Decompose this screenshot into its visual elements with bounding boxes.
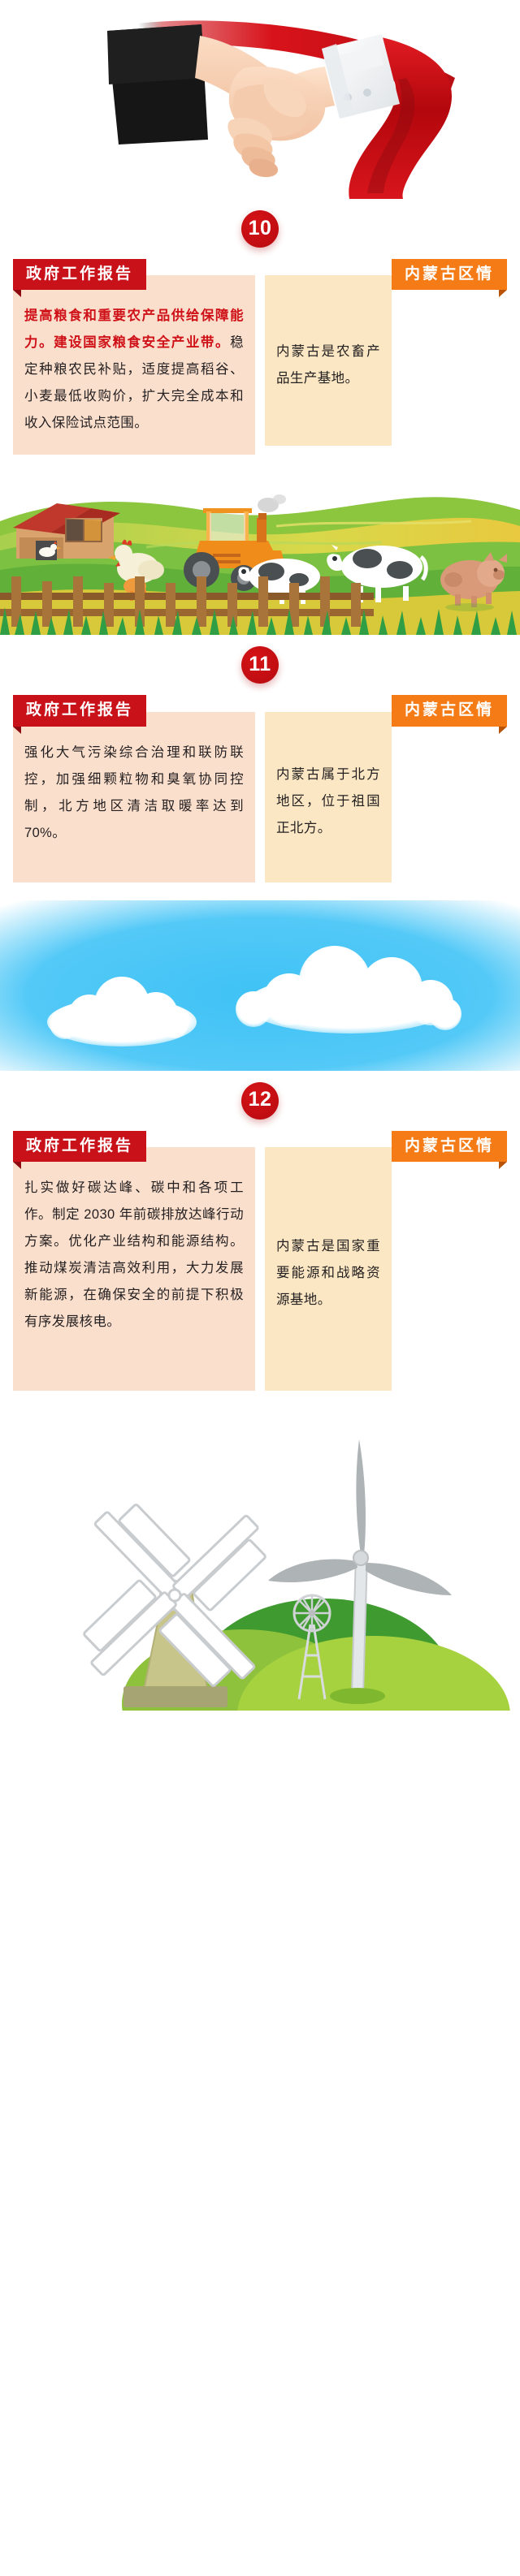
card-section-11: 政府工作报告 强化大气污染综合治理和联防联控，加强细颗粒物和臭氧协同控制，北方地…: [0, 695, 520, 882]
region-header-11: 内蒙古区情: [392, 695, 507, 726]
report-panel-11: 强化大气污染综合治理和联防联控，加强细颗粒物和臭氧协同控制，北方地区清洁取暖率达…: [13, 712, 255, 882]
sky-clouds-illustration: [0, 900, 520, 1071]
report-header-10: 政府工作报告: [13, 259, 146, 290]
windmill: [72, 1493, 276, 1707]
report-header-11: 政府工作报告: [13, 695, 146, 726]
badge-number: 11: [241, 646, 279, 684]
report-header-12: 政府工作报告: [13, 1131, 146, 1162]
region-body-11: 内蒙古属于北方地区，位于祖国正北方。: [276, 762, 380, 842]
report-panel-12: 扎实做好碳达峰、碳中和各项工作。制定 2030 年前碳排放达峰行动方案。优化产业…: [13, 1147, 255, 1391]
report-highlight-10: 提高粮食和重要农产品供给保障能力。建设国家粮食安全产业带。: [24, 309, 244, 350]
region-ribbon-wrap-12: 内蒙古区情: [265, 1131, 507, 1162]
handshake-illustration: [0, 0, 520, 199]
farm-illustration: [0, 472, 520, 635]
report-body-11: 强化大气污染综合治理和联防联控，加强细颗粒物和臭氧协同控制，北方地区清洁取暖率达…: [24, 740, 244, 847]
report-column-10: 政府工作报告 提高粮食和重要农产品供给保障能力。建设国家粮食安全产业带。稳定种粮…: [13, 259, 255, 455]
wind-energy-illustration: [0, 1418, 520, 1711]
region-body-12: 内蒙古是国家重要能源和战略资源基地。: [276, 1233, 380, 1314]
spacer: [0, 455, 520, 472]
region-header-12: 内蒙古区情: [392, 1131, 507, 1162]
windpump-rotor: [294, 1595, 330, 1631]
region-column-12: 内蒙古区情 内蒙古是国家重要能源和战略资源基地。: [265, 1131, 507, 1391]
barn: [13, 503, 120, 560]
section-badge-11: 11: [0, 635, 520, 695]
region-header-10: 内蒙古区情: [392, 259, 507, 290]
infographic-page: 10 政府工作报告 提高粮食和重要农产品供给保障能力。建设国家粮食安全产业带。稳…: [0, 0, 520, 1711]
region-column-10: 内蒙古区情 内蒙古是农畜产品生产基地。: [265, 259, 507, 455]
region-column-11: 内蒙古区情 内蒙古属于北方地区，位于祖国正北方。: [265, 695, 507, 882]
badge-number: 10: [241, 210, 279, 248]
region-panel-12: 内蒙古是国家重要能源和战略资源基地。: [265, 1147, 392, 1391]
report-column-12: 政府工作报告 扎实做好碳达峰、碳中和各项工作。制定 2030 年前碳排放达峰行动…: [13, 1131, 255, 1391]
region-panel-10: 内蒙古是农畜产品生产基地。: [265, 275, 392, 446]
report-panel-10: 提高粮食和重要农产品供给保障能力。建设国家粮食安全产业带。稳定种粮农民补贴，适度…: [13, 275, 255, 455]
report-body-12: 扎实做好碳达峰、碳中和各项工作。制定 2030 年前碳排放达峰行动方案。优化产业…: [24, 1175, 244, 1335]
report-ribbon-wrap-10: 政府工作报告: [13, 259, 255, 290]
region-body-10: 内蒙古是农畜产品生产基地。: [276, 339, 380, 392]
spacer: [0, 1391, 520, 1418]
report-column-11: 政府工作报告 强化大气污染综合治理和联防联控，加强细颗粒物和臭氧协同控制，北方地…: [13, 695, 255, 882]
report-ribbon-wrap-11: 政府工作报告: [13, 695, 255, 726]
section-badge-12: 12: [0, 1071, 520, 1131]
region-ribbon-wrap-11: 内蒙古区情: [265, 695, 507, 726]
badge-number: 12: [241, 1082, 279, 1120]
region-ribbon-wrap-10: 内蒙古区情: [265, 259, 507, 290]
card-section-10: 政府工作报告 提高粮食和重要农产品供给保障能力。建设国家粮食安全产业带。稳定种粮…: [0, 259, 520, 455]
card-section-12: 政府工作报告 扎实做好碳达峰、碳中和各项工作。制定 2030 年前碳排放达峰行动…: [0, 1131, 520, 1391]
region-panel-11: 内蒙古属于北方地区，位于祖国正北方。: [265, 712, 392, 882]
report-text-10: 提高粮食和重要农产品供给保障能力。建设国家粮食安全产业带。稳定种粮农民补贴，适度…: [24, 303, 244, 437]
section-badge-10: 10: [0, 199, 520, 259]
report-ribbon-wrap-12: 政府工作报告: [13, 1131, 255, 1162]
spacer: [0, 882, 520, 900]
